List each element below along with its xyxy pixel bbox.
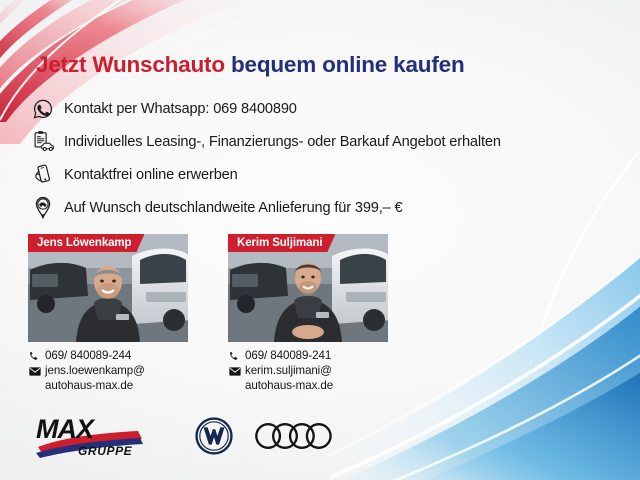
phone-icon [28, 350, 41, 363]
person-contact: 069/ 840089-244 jens.loewenkamp@ autohau… [28, 349, 198, 393]
page-title: Jetzt Wunschauto bequem online kaufen [36, 52, 465, 78]
person-phone-value: 069/ 840089-241 [245, 349, 331, 363]
person-email-row[interactable]: jens.loewenkamp@ [28, 364, 198, 378]
person-card: Kerim Suljimani 069/ 840089-241 k [228, 234, 398, 393]
page-title-blue-part: bequem online kaufen [225, 52, 465, 77]
list-item: Kontakt per Whatsapp: 069 8400890 [30, 93, 610, 124]
audi-logo [254, 421, 346, 456]
list-item-label: Kontakt per Whatsapp: 069 8400890 [64, 101, 297, 117]
person-name-badge: Kerim Suljimani [228, 234, 335, 252]
promo-slide: Jetzt Wunschauto bequem online kaufen Ko… [0, 0, 640, 480]
person-email-line2: autohaus-max.de [245, 379, 398, 393]
envelope-icon [228, 365, 241, 378]
benefits-list: Kontakt per Whatsapp: 069 8400890 Indivi… [30, 93, 610, 225]
person-email-line1: jens.loewenkamp@ [45, 364, 145, 378]
person-card: Jens Löwenkamp 069/ 840089-244 je [28, 234, 198, 393]
list-item: Kontaktfrei online erwerben [30, 159, 610, 190]
person-photo: Jens Löwenkamp [28, 234, 188, 342]
person-photo: Kerim Suljimani [228, 234, 388, 342]
list-item: Individuelles Leasing-, Finanzierungs- o… [30, 126, 610, 157]
person-name-badge: Jens Löwenkamp [28, 234, 144, 252]
person-phone-row[interactable]: 069/ 840089-241 [228, 349, 398, 363]
person-email-line2: autohaus-max.de [45, 379, 198, 393]
list-item-label: Auf Wunsch deutschlandweite Anlieferung … [64, 200, 403, 216]
brand-logo-row: MAX GRUPPE [30, 413, 346, 464]
clipboard-car-icon [30, 129, 56, 155]
envelope-icon [28, 365, 41, 378]
phone-icon [228, 350, 241, 363]
gruppe-wordmark: GRUPPE [78, 444, 133, 458]
max-gruppe-logo: MAX GRUPPE [30, 413, 150, 464]
map-pin-car-icon [30, 195, 56, 221]
list-item-label: Individuelles Leasing-, Finanzierungs- o… [64, 134, 501, 150]
person-contact: 069/ 840089-241 kerim.suljimani@ autohau… [228, 349, 398, 393]
max-wordmark: MAX [36, 414, 96, 444]
person-email-line1: kerim.suljimani@ [245, 364, 332, 378]
list-item-label: Kontaktfrei online erwerben [64, 167, 238, 183]
list-item: Auf Wunsch deutschlandweite Anlieferung … [30, 192, 610, 223]
volkswagen-logo [194, 416, 234, 461]
person-email-row[interactable]: kerim.suljimani@ [228, 364, 398, 378]
person-phone-value: 069/ 840089-244 [45, 349, 131, 363]
person-phone-row[interactable]: 069/ 840089-244 [28, 349, 198, 363]
whatsapp-icon [30, 96, 56, 122]
page-title-red-part: Jetzt Wunschauto [36, 52, 225, 77]
hand-phone-icon [30, 162, 56, 188]
